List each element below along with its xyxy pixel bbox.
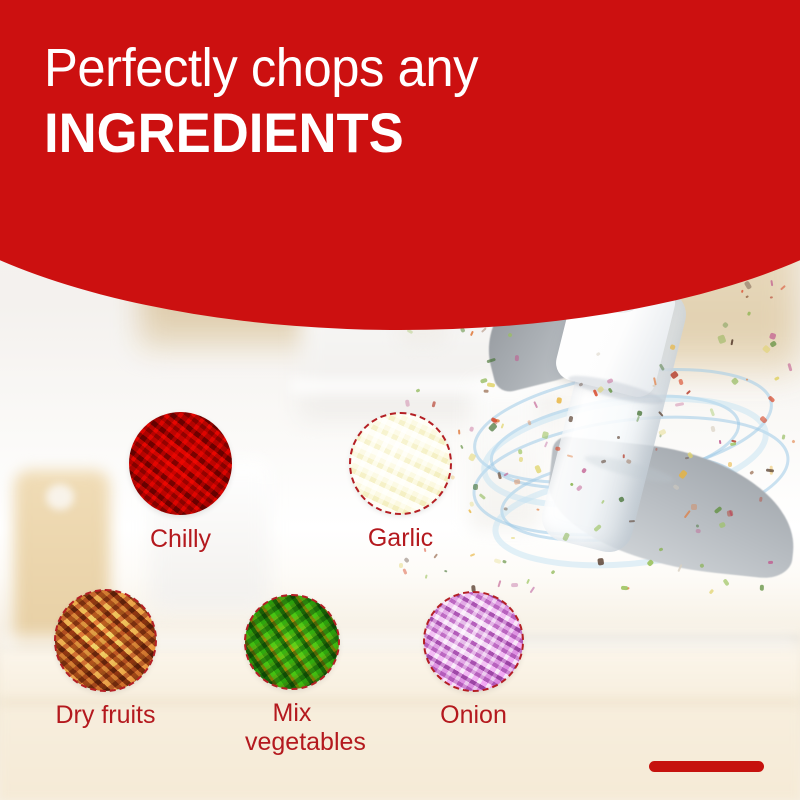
- food-particle: [470, 331, 474, 336]
- food-particle: [514, 478, 521, 485]
- food-particle: [746, 379, 748, 381]
- food-particle: [460, 445, 463, 449]
- food-particle: [511, 537, 515, 539]
- food-particle: [503, 472, 508, 477]
- food-particle: [405, 399, 410, 406]
- food-particle: [782, 435, 785, 440]
- food-particle: [544, 441, 548, 447]
- page-title: Perfectly chops any INGREDIENTS: [44, 36, 704, 166]
- food-particle: [533, 401, 537, 408]
- ingredient-item-onion[interactable]: Onion: [424, 592, 523, 730]
- food-particle: [479, 493, 486, 499]
- food-particle: [503, 507, 507, 511]
- food-particle: [730, 339, 733, 345]
- ingredient-item-mix-vegetables[interactable]: Mix vegetables: [245, 595, 339, 757]
- food-particle: [519, 457, 524, 462]
- bottom-accent-bar: [649, 761, 764, 772]
- ingredient-label-onion: Onion: [424, 701, 523, 730]
- ingredient-item-chilly[interactable]: Chilly: [129, 412, 232, 554]
- food-particle: [488, 422, 498, 432]
- food-particle: [536, 508, 539, 510]
- food-particle: [770, 280, 773, 286]
- food-particle: [551, 570, 556, 575]
- food-particle: [769, 332, 776, 339]
- food-particle: [770, 466, 773, 475]
- food-particle: [473, 484, 479, 490]
- food-particle: [492, 418, 499, 425]
- food-particle: [686, 390, 691, 395]
- food-particle: [498, 474, 502, 480]
- food-particle: [749, 470, 754, 475]
- food-particle: [780, 285, 786, 290]
- food-particle: [774, 376, 780, 381]
- food-particle: [527, 420, 532, 426]
- ingredient-label-chilly: Chilly: [129, 525, 232, 554]
- food-particle: [626, 587, 630, 590]
- food-particle: [747, 311, 751, 316]
- food-particle: [709, 408, 714, 416]
- food-particle: [791, 439, 795, 443]
- food-particle: [675, 402, 684, 406]
- food-particle: [481, 327, 487, 333]
- food-particle: [728, 462, 732, 467]
- food-particle: [470, 553, 475, 557]
- food-particle: [745, 295, 749, 299]
- food-particle: [719, 440, 722, 444]
- food-particle: [480, 378, 488, 384]
- food-particle: [741, 290, 744, 293]
- food-particle: [722, 322, 729, 329]
- food-particle: [759, 415, 767, 423]
- food-particle: [768, 395, 776, 402]
- food-particle: [534, 465, 541, 474]
- food-particle: [502, 560, 506, 564]
- food-particle: [658, 429, 666, 437]
- food-particle: [760, 585, 764, 591]
- food-particle: [496, 419, 501, 423]
- food-particle: [762, 344, 771, 353]
- ingredient-photo-onion: [424, 592, 523, 691]
- promo-banner: Perfectly chops any INGREDIENTS ChillyGa…: [0, 0, 800, 800]
- food-particle: [518, 449, 523, 454]
- food-particle: [487, 382, 496, 387]
- food-particle: [766, 469, 774, 473]
- food-particle: [511, 583, 518, 587]
- food-particle: [468, 453, 476, 462]
- food-particle: [788, 363, 793, 372]
- food-particle: [730, 442, 737, 446]
- food-particle: [542, 431, 549, 439]
- food-particle: [469, 502, 474, 507]
- ingredient-photo-chilly: [129, 412, 232, 515]
- food-particle: [494, 558, 502, 564]
- food-particle: [468, 509, 472, 514]
- ingredient-photo-mix-vegetables: [245, 595, 339, 689]
- ingredient-label-mix-vegetables: Mix vegetables: [245, 699, 339, 757]
- food-particle: [659, 434, 661, 437]
- cutting-board-handle-hole: [46, 484, 74, 510]
- ingredient-item-dry-fruits[interactable]: Dry fruits: [55, 590, 156, 730]
- food-particle: [498, 580, 502, 587]
- food-particle: [770, 296, 773, 299]
- ingredient-item-garlic[interactable]: Garlic: [350, 413, 451, 553]
- food-particle: [484, 390, 489, 393]
- food-particle: [556, 397, 562, 404]
- food-particle: [621, 586, 628, 590]
- food-particle: [718, 334, 727, 344]
- ingredient-label-dry-fruits: Dry fruits: [55, 701, 156, 730]
- food-particle: [469, 426, 474, 432]
- food-particle: [732, 440, 737, 443]
- headline-line-2: INGREDIENTS: [44, 100, 664, 166]
- ingredient-photo-dry-fruits: [55, 590, 156, 691]
- food-particle: [770, 340, 777, 347]
- ingredient-label-garlic: Garlic: [350, 524, 451, 553]
- food-particle: [597, 558, 603, 566]
- food-particle: [678, 379, 683, 386]
- food-particle: [526, 579, 530, 585]
- food-particle: [723, 578, 730, 586]
- food-particle: [490, 417, 497, 423]
- ingredient-photo-garlic: [350, 413, 451, 514]
- food-particle: [710, 426, 715, 433]
- headline-line-1: Perfectly chops any: [44, 36, 664, 100]
- food-particle: [458, 430, 461, 435]
- food-particle: [501, 423, 505, 428]
- food-particle: [731, 377, 740, 386]
- food-particle: [744, 281, 752, 290]
